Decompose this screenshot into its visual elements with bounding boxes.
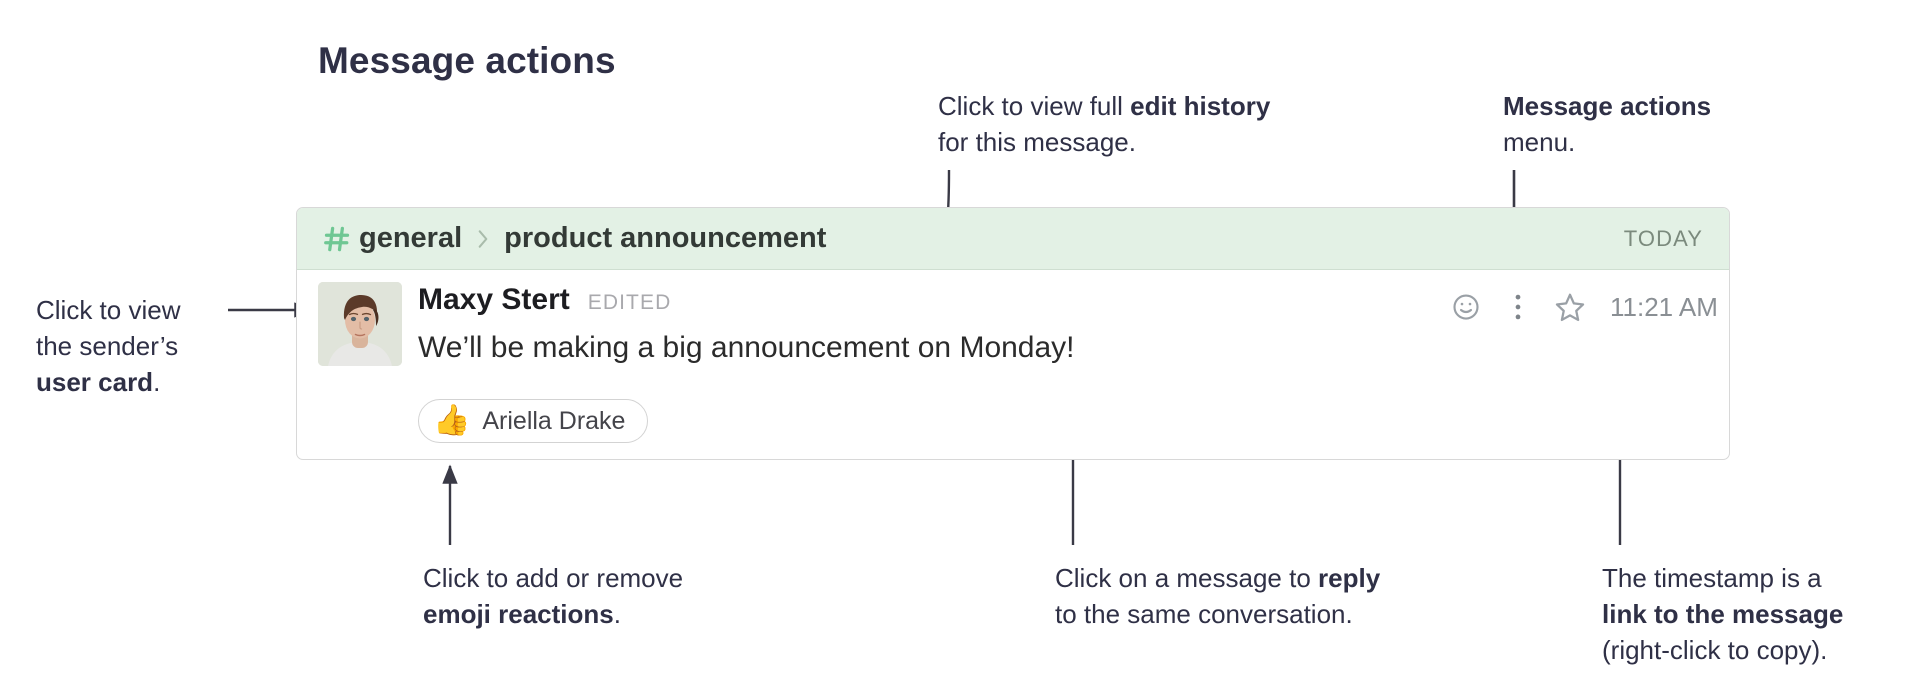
avatar[interactable]: [318, 282, 402, 366]
annotation-emoji-period: .: [614, 599, 621, 629]
annotation-reply: Click on a message to reply to the same …: [1055, 560, 1455, 632]
annotation-actions-menu: Message actions menu.: [1503, 88, 1803, 160]
chevron-right-icon: [475, 228, 491, 250]
annotation-reply-line1-pre: Click on a message to: [1055, 563, 1318, 593]
annotation-user-card-strong: user card: [36, 367, 153, 397]
annotation-emoji-strong: emoji reactions: [423, 599, 614, 629]
reaction-label: Ariella Drake: [482, 407, 625, 436]
hash-icon: [321, 223, 353, 255]
annotation-timestamp-link: The timestamp is a link to the message (…: [1602, 560, 1924, 668]
vertical-ellipsis-icon[interactable]: [1492, 286, 1544, 328]
annotation-user-card-line2: the sender’s: [36, 331, 178, 361]
annotation-timestamp-strong: link to the message: [1602, 599, 1843, 629]
annotated-screenshot: Message actions Click to view full edit …: [0, 0, 1924, 696]
star-icon[interactable]: [1544, 286, 1596, 328]
message-actions: 11:21 AM: [1440, 286, 1718, 328]
annotation-emoji-line1: Click to add or remove: [423, 563, 683, 593]
annotation-emoji-reactions: Click to add or remove emoji reactions.: [423, 560, 763, 632]
message-text: We’ll be making a big announcement on Mo…: [418, 329, 1418, 367]
date-label: TODAY: [1624, 226, 1703, 252]
annotation-reply-strong: reply: [1318, 563, 1380, 593]
annotation-user-card-period: .: [153, 367, 160, 397]
reaction-pill[interactable]: 👍 Ariella Drake: [418, 399, 648, 443]
page-title: Message actions: [318, 40, 616, 82]
annotation-user-card: Click to view the sender’s user card.: [36, 292, 266, 400]
message-header: Maxy Stert EDITED: [418, 283, 1418, 317]
sender-name[interactable]: Maxy Stert: [418, 283, 570, 317]
emoji-reaction-icon[interactable]: [1440, 286, 1492, 328]
annotation-edit-history: Click to view full edit history for this…: [938, 88, 1358, 160]
message-timestamp[interactable]: 11:21 AM: [1610, 292, 1718, 323]
thumbs-up-icon: 👍: [433, 406, 470, 436]
topic-name[interactable]: product announcement: [504, 222, 826, 255]
stream-name[interactable]: general: [359, 222, 462, 255]
reaction-row: 👍 Ariella Drake: [418, 399, 648, 443]
stream-topic-bar: general product announcement TODAY: [297, 208, 1729, 270]
annotation-edit-history-line1-pre: Click to view full: [938, 91, 1130, 121]
annotation-actions-menu-strong: Message actions: [1503, 91, 1711, 121]
annotation-actions-menu-line2: menu.: [1503, 127, 1575, 157]
edited-badge[interactable]: EDITED: [588, 291, 672, 315]
annotation-reply-line2: to the same conversation.: [1055, 599, 1353, 629]
annotation-timestamp-line1: The timestamp is a: [1602, 563, 1822, 593]
annotation-user-card-line1: Click to view: [36, 295, 180, 325]
annotation-edit-history-strong: edit history: [1130, 91, 1270, 121]
message-body[interactable]: Maxy Stert EDITED We’ll be making a big …: [418, 283, 1418, 367]
annotation-timestamp-line3: (right-click to copy).: [1602, 635, 1827, 665]
annotation-edit-history-line2: for this message.: [938, 127, 1136, 157]
